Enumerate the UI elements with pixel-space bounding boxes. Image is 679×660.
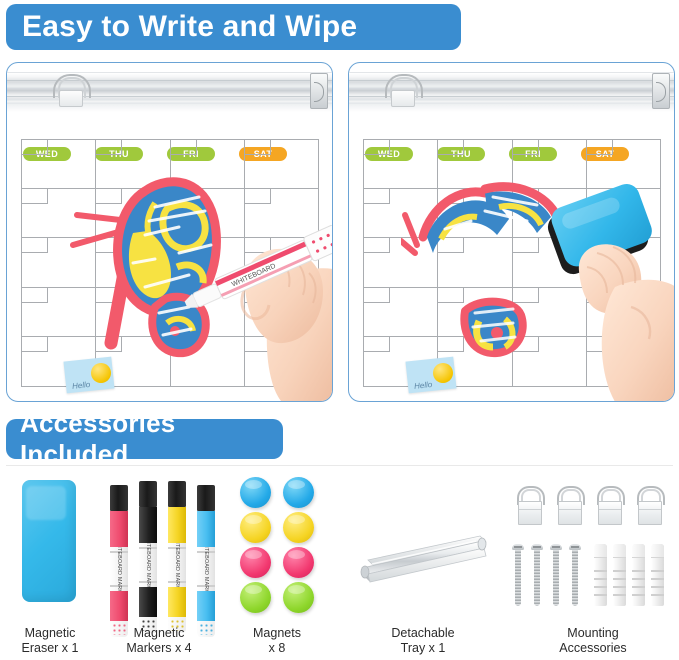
wall-anchor	[632, 544, 645, 606]
mounting-screw	[531, 544, 543, 606]
marker-cap	[168, 481, 186, 507]
marker-cap	[110, 485, 128, 511]
sticky-note-magnet	[433, 363, 453, 383]
sticky-note-magnet	[91, 363, 111, 383]
caption-magnets: Magnets x 8	[222, 626, 332, 656]
infographic-page: Easy to Write and Wipe WED THU FRI SAT	[0, 0, 679, 660]
wall-anchor	[594, 544, 607, 606]
marker-cap	[139, 481, 157, 507]
board-corner-bracket	[310, 73, 328, 109]
whiteboard-panel-writing: WED THU FRI SAT	[6, 62, 333, 402]
section-banner-accessories-included: Accessories Included	[6, 419, 283, 459]
hand-with-marker: WHITEBOARD	[221, 191, 333, 402]
rail-shadow	[7, 102, 332, 112]
wall-anchor	[651, 544, 664, 606]
wall-hanger-bracket	[636, 486, 662, 526]
magnet-yellow	[283, 512, 314, 543]
marker-label: WHITEBOARD MARKER	[168, 543, 186, 587]
caption-mounting-accessories: Mounting Accessories	[528, 626, 658, 656]
magnet-green	[283, 582, 314, 613]
marker-label: WHITEBOARD MARKER	[197, 547, 215, 591]
marker-pink: WHITEBOARD MARKER	[110, 485, 128, 637]
caption-magnetic-markers: Magnetic Markers x 4	[112, 626, 206, 656]
magnet-yellow	[240, 512, 271, 543]
marker-blue: WHITEBOARD MARKER	[197, 485, 215, 637]
d-ring-hanger-icon	[53, 74, 87, 98]
mounting-screw	[550, 544, 562, 606]
hand-with-eraser	[535, 175, 675, 402]
magnet-blue	[283, 477, 314, 508]
detachable-tray-item	[352, 530, 492, 590]
section-banner-easy-to-write-and-wipe: Easy to Write and Wipe	[6, 4, 461, 50]
marker-black: WHITEBOARD MARKER	[139, 481, 157, 633]
caption-detachable-tray: Detachable Tray x 1	[368, 626, 478, 656]
wall-hanger-bracket	[516, 486, 542, 526]
accessories-divider	[6, 465, 673, 466]
d-ring-hanger-icon	[385, 74, 419, 98]
magnet-pink	[240, 547, 271, 578]
whiteboard-panel-wiping: WED THU FRI SAT	[348, 62, 675, 402]
wall-anchor	[613, 544, 626, 606]
marker-label: WHITEBOARD MARKER	[110, 547, 128, 591]
magnet-pink	[283, 547, 314, 578]
wall-hanger-bracket	[596, 486, 622, 526]
caption-magnetic-eraser: Magnetic Eraser x 1	[4, 626, 96, 656]
mounting-screw	[569, 544, 581, 606]
magnet-green	[240, 582, 271, 613]
wall-hanger-bracket	[556, 486, 582, 526]
marker-yellow: WHITEBOARD MARKER	[168, 481, 186, 633]
magnet-blue	[240, 477, 271, 508]
board-corner-bracket	[652, 73, 670, 109]
marker-icon: WHITEBOARD	[171, 225, 333, 317]
magnetic-eraser-item	[22, 480, 76, 602]
marker-label: WHITEBOARD MARKER	[139, 543, 157, 587]
mounting-screw	[512, 544, 524, 606]
marker-cap	[197, 485, 215, 511]
